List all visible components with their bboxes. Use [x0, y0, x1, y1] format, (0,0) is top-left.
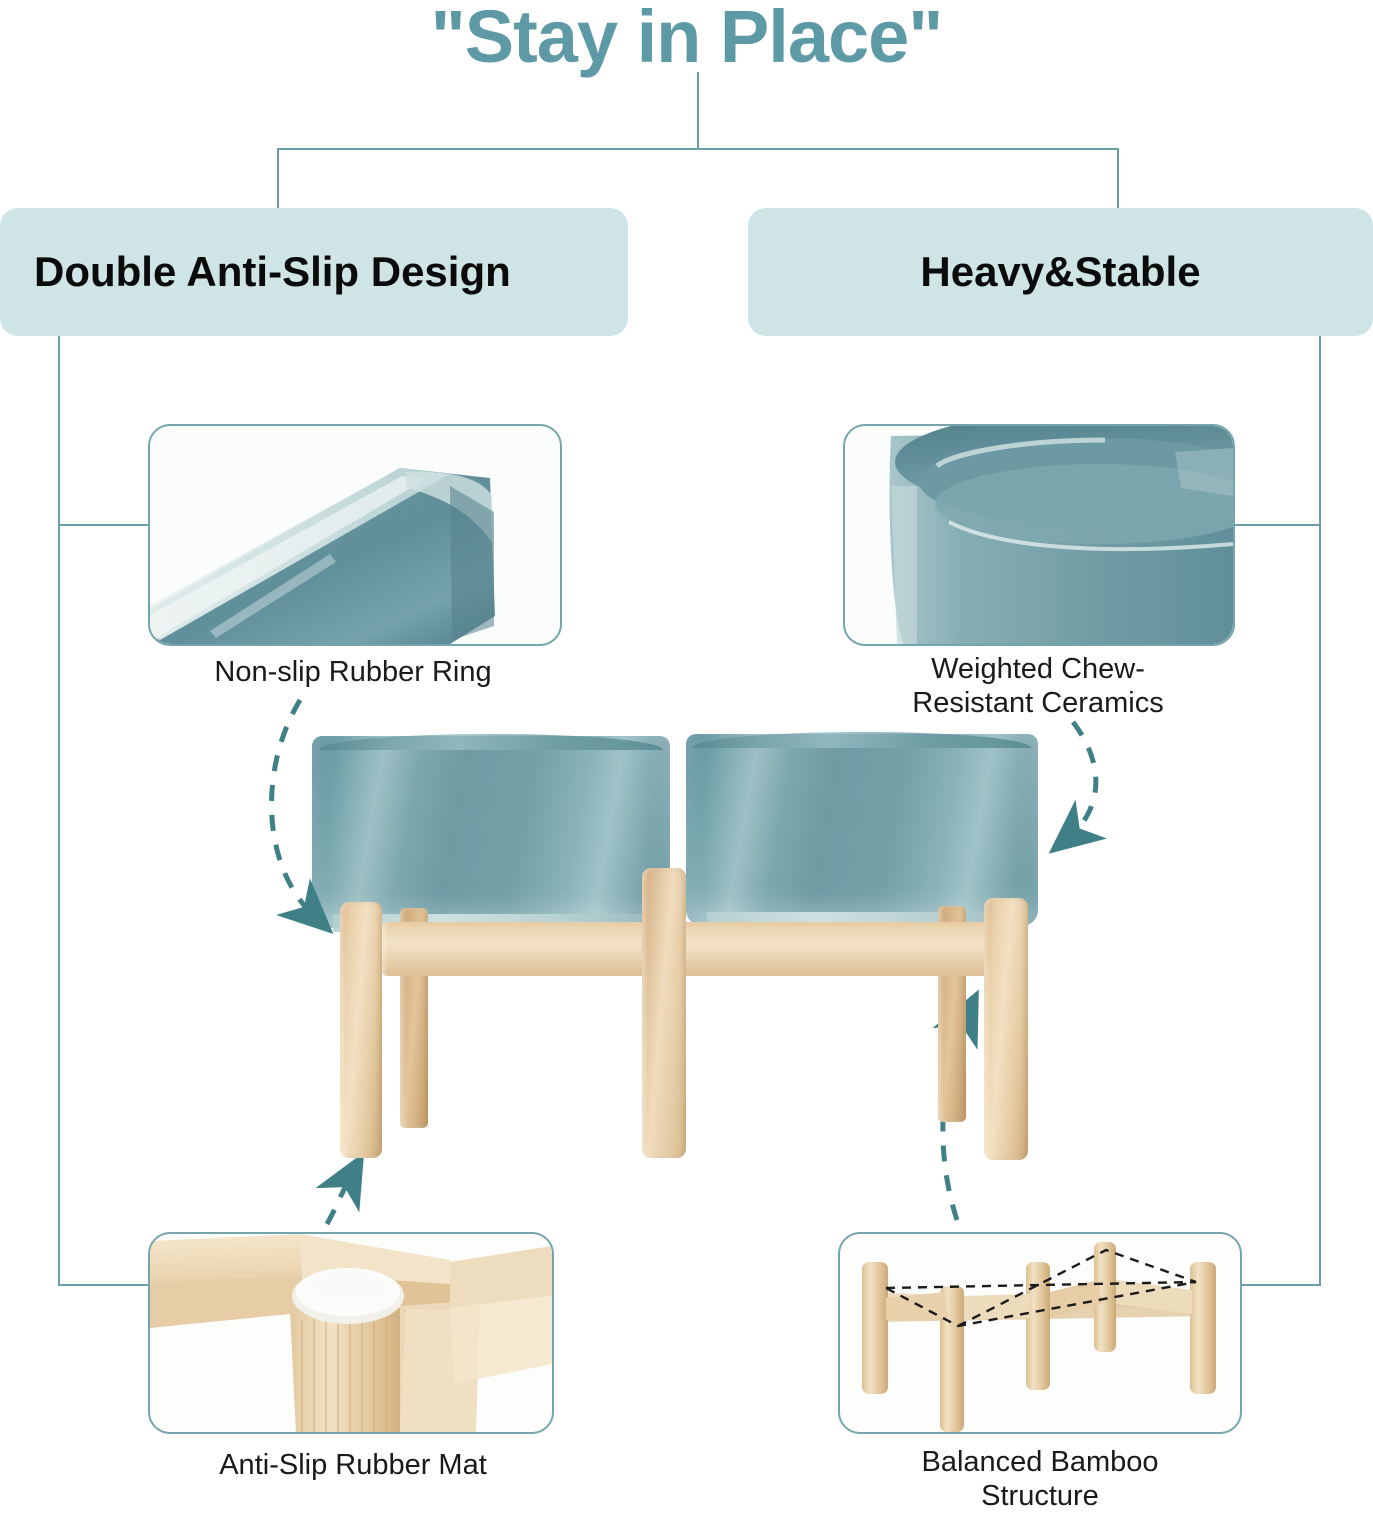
- arrow-to-rubber-mat: [327, 1174, 352, 1224]
- inset-photo-balanced-bamboo-structure[interactable]: [838, 1232, 1242, 1434]
- inset-caption-line-1: Balanced Bamboo: [858, 1445, 1222, 1479]
- bamboo-center-post: [642, 868, 686, 1158]
- inset-caption-line-2: Structure: [858, 1479, 1222, 1513]
- arrow-to-rubber-ring: [272, 700, 315, 917]
- inset-photo-anti-slip-rubber-mat[interactable]: [148, 1232, 554, 1434]
- bamboo-leg-right-front: [984, 898, 1028, 1160]
- bamboo-cross-rail: [382, 922, 1006, 976]
- inset-caption-anti-slip-rubber-mat: Anti-Slip Rubber Mat: [128, 1448, 578, 1482]
- bamboo-leg-rubber-pad-image: [150, 1234, 552, 1432]
- bamboo-structure-diagram-image: [840, 1234, 1240, 1432]
- inset-caption-balanced-bamboo-structure: Balanced Bamboo Structure: [858, 1445, 1222, 1513]
- bamboo-leg-left-front: [340, 902, 382, 1158]
- arrow-to-ceramics: [1068, 722, 1096, 838]
